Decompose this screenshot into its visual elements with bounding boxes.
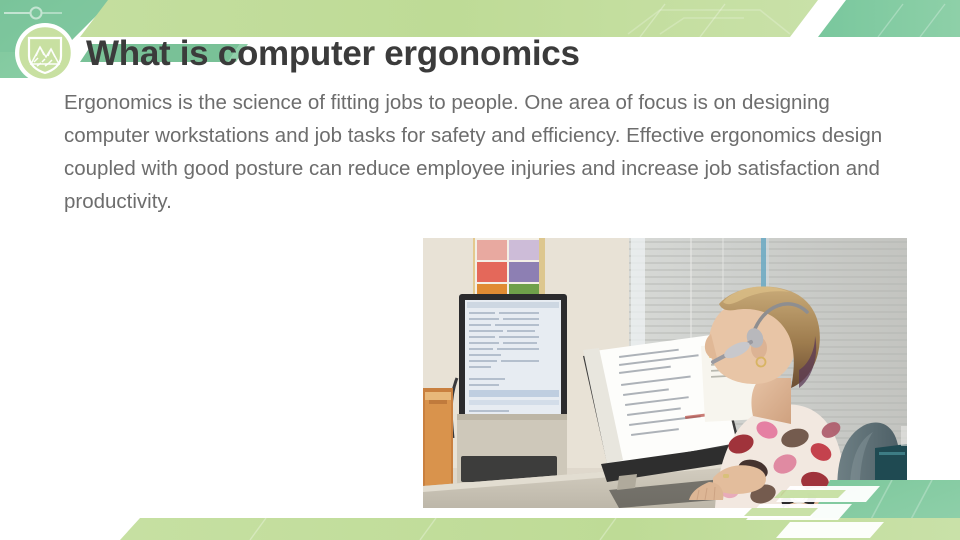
circuit-trace-icon (4, 8, 62, 19)
slide: What is computer ergonomics Ergonomics i… (0, 0, 960, 540)
workstation-photo (423, 238, 907, 508)
footer-band-light (120, 518, 960, 540)
shield-mountain-logo (14, 22, 76, 84)
orange-folder (423, 388, 453, 494)
page-title: What is computer ergonomics (86, 31, 906, 77)
body-paragraph: Ergonomics is the science of fitting job… (64, 86, 896, 218)
